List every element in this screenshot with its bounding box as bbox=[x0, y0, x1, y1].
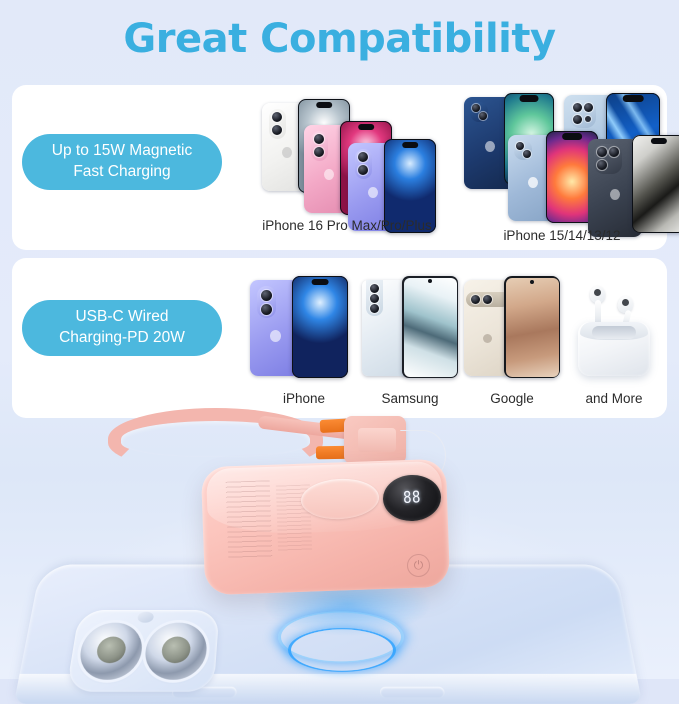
phone-camera-module bbox=[66, 610, 219, 692]
screen-wallpaper bbox=[506, 278, 559, 377]
camera-module bbox=[269, 109, 286, 139]
airpod-right-mesh bbox=[622, 299, 629, 306]
phone-bezel bbox=[632, 135, 679, 233]
power-bank-spec-print bbox=[226, 480, 273, 559]
caption-iphone-legacy: iPhone 15/14/13/12 bbox=[452, 228, 672, 243]
device-group-google bbox=[464, 276, 572, 380]
card-wired-charging: USB-C Wired Charging-PD 20W iPhone bbox=[12, 258, 667, 418]
camera-module bbox=[355, 149, 372, 179]
caption-iphone16: iPhone 16 Pro Max/Pro/Plus bbox=[227, 218, 467, 233]
camera-module bbox=[257, 286, 276, 318]
caption-and-more: and More bbox=[560, 391, 668, 406]
screen-wallpaper bbox=[404, 278, 457, 377]
phone-lens-main bbox=[76, 623, 145, 680]
airpods-case-slot bbox=[592, 326, 636, 339]
badge-magnetic-line2: Fast Charging bbox=[73, 163, 170, 180]
product-power-bank: 88 ⏻ bbox=[203, 463, 448, 591]
caption-google: Google bbox=[458, 391, 566, 406]
airpod-left-mesh bbox=[594, 289, 601, 296]
cable-loop bbox=[108, 408, 323, 470]
punch-hole-camera bbox=[530, 280, 534, 284]
badge-wired-charging: USB-C Wired Charging-PD 20W bbox=[22, 300, 222, 356]
badge-wired-line2: Charging-PD 20W bbox=[59, 329, 185, 346]
infographic-canvas: Great Compatibility Up to 15W Magnetic F… bbox=[0, 0, 679, 679]
camera-module bbox=[570, 100, 596, 128]
page-title: Great Compatibility bbox=[0, 16, 679, 62]
camera-module bbox=[514, 140, 532, 160]
camera-module bbox=[311, 131, 328, 161]
card-magnetic-charging: Up to 15W Magnetic Fast Charging bbox=[12, 85, 667, 250]
phone-bezel bbox=[292, 276, 348, 378]
google-logo bbox=[483, 334, 492, 343]
device-group-iphone16 bbox=[252, 99, 442, 219]
power-icon: ⏻ bbox=[414, 558, 424, 573]
phone-flash bbox=[137, 612, 154, 623]
battery-percentage-readout: 88 bbox=[403, 488, 422, 507]
phone-speaker-slot-right bbox=[380, 687, 445, 698]
badge-magnetic-line1: Up to 15W Magnetic bbox=[52, 142, 192, 159]
device-group-iphone-legacy bbox=[460, 93, 670, 221]
device-group-airpods bbox=[568, 282, 672, 380]
camera-module bbox=[366, 280, 383, 316]
badge-wired-line1: USB-C Wired bbox=[75, 308, 168, 325]
cable-connector-tab bbox=[358, 428, 396, 452]
device-group-iphone bbox=[250, 276, 358, 380]
magnetic-ring-inner bbox=[288, 628, 396, 672]
phone-iphone15pro-front bbox=[632, 135, 679, 233]
phone-iphone-purple-front bbox=[292, 276, 348, 378]
camera-module bbox=[470, 102, 488, 122]
badge-magnetic-charging: Up to 15W Magnetic Fast Charging bbox=[22, 134, 222, 190]
caption-samsung: Samsung bbox=[356, 391, 464, 406]
punch-hole-camera bbox=[428, 279, 432, 283]
phone-lens-wide bbox=[142, 623, 208, 680]
camera-module bbox=[594, 144, 622, 174]
phone-pixel-front bbox=[504, 276, 560, 378]
device-group-samsung bbox=[362, 276, 470, 380]
power-button[interactable]: ⏻ bbox=[407, 554, 430, 577]
caption-iphone: iPhone bbox=[250, 391, 358, 406]
phone-samsung-front bbox=[402, 276, 458, 378]
